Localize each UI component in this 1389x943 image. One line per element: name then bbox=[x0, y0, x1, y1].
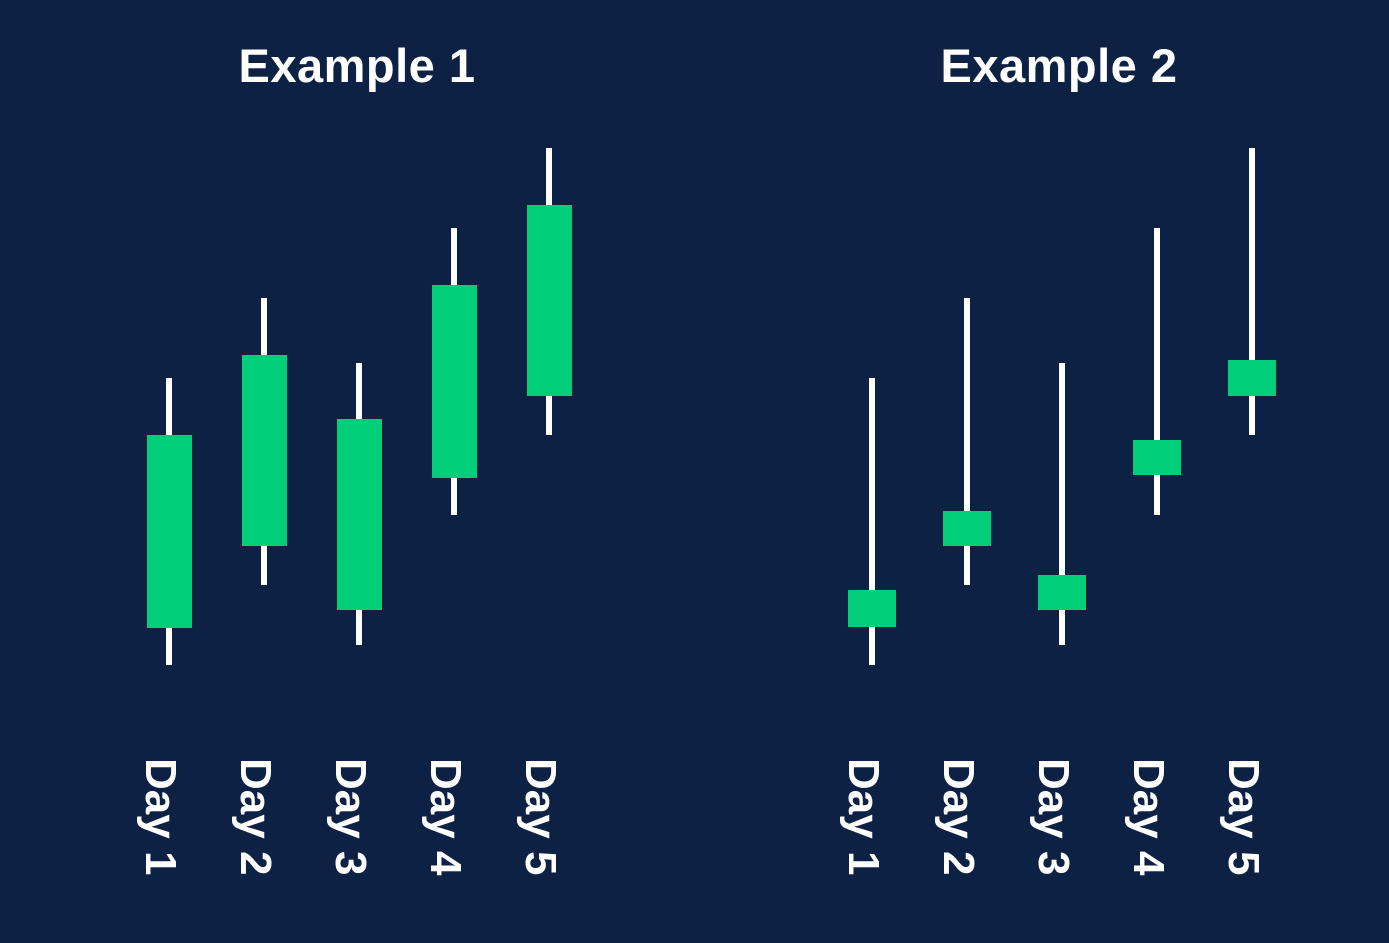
x-axis-label: Day 1 bbox=[135, 758, 185, 875]
x-axis-label: Day 2 bbox=[230, 758, 280, 875]
x-axis-label: Day 3 bbox=[1028, 758, 1078, 875]
x-axis-label: Day 3 bbox=[325, 758, 375, 875]
x-axis-label: Day 5 bbox=[1218, 758, 1268, 875]
x-axis-label: Day 4 bbox=[1123, 758, 1173, 875]
candlestick-body bbox=[527, 205, 572, 396]
x-axis-label: Day 1 bbox=[838, 758, 888, 875]
x-axis-label: Day 2 bbox=[933, 758, 983, 875]
x-axis-label: Day 4 bbox=[420, 758, 470, 875]
chart-canvas: Example 1 Example 2 Day 1Day 2Day 3Day 4… bbox=[0, 0, 1389, 943]
candlestick-body bbox=[1228, 360, 1276, 396]
x-axis-label: Day 5 bbox=[515, 758, 565, 875]
